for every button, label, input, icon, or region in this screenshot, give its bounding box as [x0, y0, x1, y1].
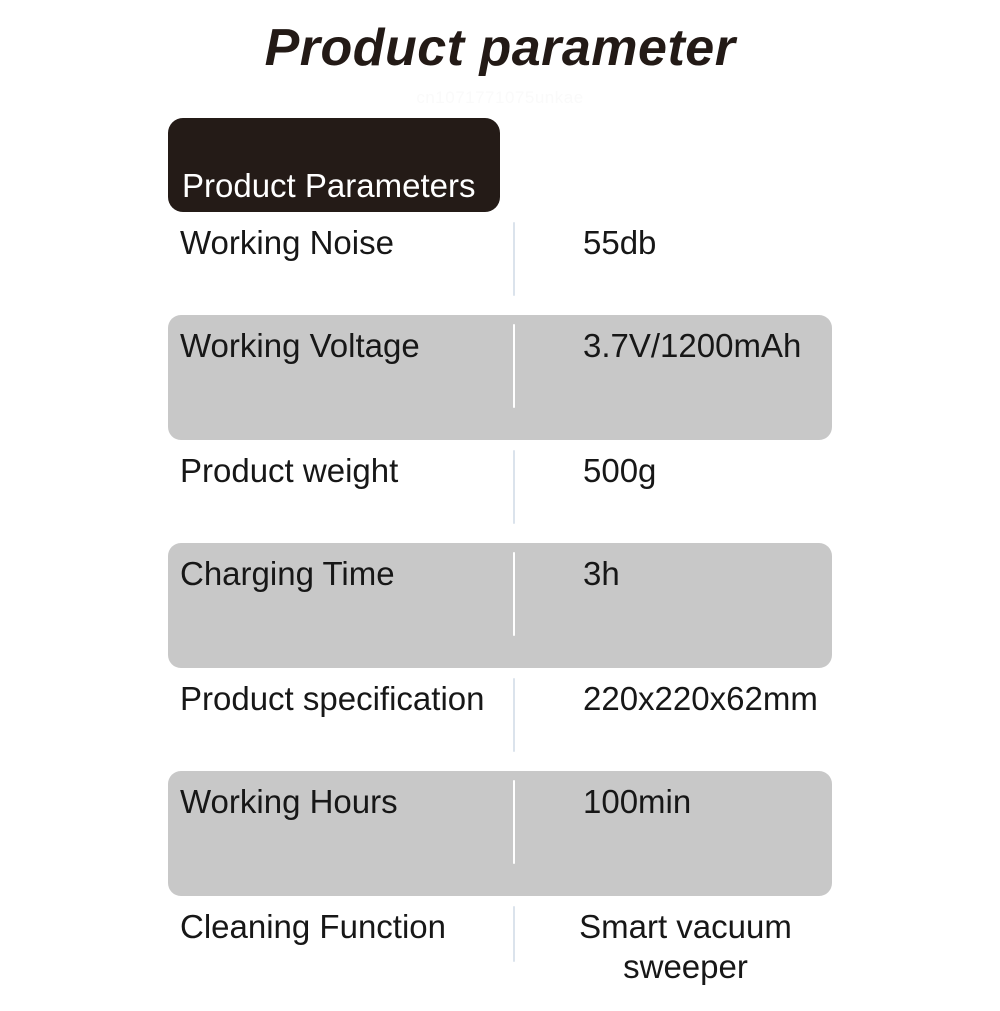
row-key: Product specification: [168, 668, 513, 719]
row-value: 220x220x62mm: [515, 668, 832, 719]
row-key: Working Hours: [168, 771, 513, 822]
watermark-text: cn1071771075unkae: [0, 88, 1000, 108]
table-row: Working Voltage 3.7V/1200mAh: [168, 315, 832, 440]
specification-table: Product Parameters Working Noise 55db Wo…: [168, 118, 832, 1011]
row-value: 3.7V/1200mAh: [515, 315, 832, 366]
table-row: Product specification 220x220x62mm: [168, 668, 832, 771]
table-header-pill: Product Parameters: [168, 118, 500, 212]
row-key: Charging Time: [168, 543, 513, 594]
table-row: Product weight 500g: [168, 440, 832, 543]
table-row: Charging Time 3h: [168, 543, 832, 668]
row-value: 3h: [515, 543, 832, 594]
product-parameter-page: Product parameter cn1071771075unkae Prod…: [0, 0, 1000, 1000]
row-value: 100min: [515, 771, 832, 822]
table-header-label: Product Parameters: [182, 169, 475, 202]
row-key: Working Voltage: [168, 315, 513, 366]
table-row: Cleaning Function Smart vacuum sweeper: [168, 896, 832, 1011]
table-row: Working Noise 55db: [168, 212, 832, 315]
row-key: Product weight: [168, 440, 513, 491]
page-title: Product parameter: [0, 18, 1000, 78]
row-key: Cleaning Function: [168, 896, 513, 947]
row-value: Smart vacuum sweeper: [515, 896, 832, 988]
row-key: Working Noise: [168, 212, 513, 263]
table-row: Working Hours 100min: [168, 771, 832, 896]
row-value: 500g: [515, 440, 832, 491]
row-value: 55db: [515, 212, 832, 263]
